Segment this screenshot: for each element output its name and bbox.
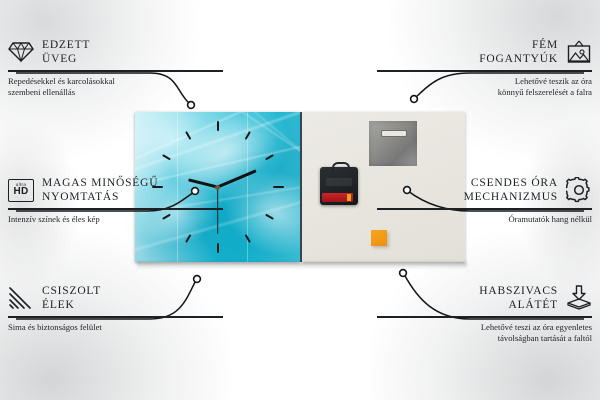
feature-silent-mechanism: CSENDES ÓRA MECHANIZMUS Óramutatók hang … — [377, 176, 592, 225]
feature-description: Repedésekkel és karcolásokkal szembeni e… — [8, 76, 223, 98]
hour-tick — [244, 234, 250, 243]
hanger-slot — [381, 130, 407, 137]
gear-icon — [566, 177, 592, 203]
feature-divider — [377, 316, 592, 318]
hour-tick — [265, 214, 274, 220]
feature-description: Lehetővé teszik az óra könnyű felszerelé… — [377, 76, 592, 98]
feature-title: CSENDES ÓRA MECHANIZMUS — [464, 176, 558, 204]
picture-frame-hook-icon — [566, 39, 592, 65]
hour-tick — [185, 131, 191, 140]
feature-title: CSISZOLT ÉLEK — [42, 284, 101, 312]
feature-polished-edges: CSISZOLT ÉLEK Sima és biztonságos felüle… — [8, 284, 223, 333]
feature-divider — [377, 70, 592, 72]
feature-divider — [377, 208, 592, 210]
hour-tick — [162, 154, 171, 160]
feature-header: CSENDES ÓRA MECHANIZMUS — [377, 176, 592, 204]
feature-divider — [8, 208, 223, 210]
infographic-canvas: EDZETT ÜVEG Repedésekkel és karcolásokka… — [0, 0, 600, 400]
mechanism-detail — [326, 178, 352, 186]
hour-tick — [185, 234, 191, 243]
ultra-hd-badge: ultra HD — [8, 179, 34, 202]
hour-tick — [273, 186, 284, 188]
diamond-icon — [8, 39, 34, 65]
mechanism-loop — [332, 162, 350, 172]
feature-title: MAGAS MINŐSÉGŰ NYOMTATÁS — [42, 176, 158, 204]
ultra-hd-icon: ultra HD — [8, 177, 34, 203]
feature-metal-handles: FÉM FOGANTYÚK Lehetővé teszik az óra kön… — [377, 38, 592, 98]
feature-high-quality-print: ultra HD MAGAS MINŐSÉGŰ NYOMTATÁS Intenz… — [8, 176, 223, 225]
feature-header: CSISZOLT ÉLEK — [8, 284, 223, 312]
connector-endpoint — [400, 270, 407, 277]
feature-description: Sima és biztonságos felület — [8, 322, 223, 333]
hour-tick — [217, 121, 219, 131]
ultra-hd-big-label: HD — [13, 187, 28, 197]
feature-title: FÉM FOGANTYÚK — [479, 38, 558, 66]
foam-pad-arrow-icon — [566, 285, 592, 311]
connector-endpoint — [194, 276, 201, 283]
product-shadow — [137, 262, 467, 269]
feature-foam-spacer: HABSZIVACS ALÁTÉT Lehetővé teszi az óra … — [377, 284, 592, 344]
hour-tick — [244, 131, 250, 140]
feature-header: EDZETT ÜVEG — [8, 38, 223, 66]
feature-tempered-glass: EDZETT ÜVEG Repedésekkel és karcolásokka… — [8, 38, 223, 98]
feature-title: EDZETT ÜVEG — [42, 38, 90, 66]
feature-divider — [8, 316, 223, 318]
clock-mechanism — [320, 167, 358, 205]
feature-description: Intenzív színek és éles kép — [8, 214, 223, 225]
metal-hanger — [369, 121, 417, 166]
foam-pad — [371, 230, 387, 246]
hour-tick — [265, 154, 274, 160]
feature-description: Lehetővé teszi az óra egyenletes távolsá… — [377, 322, 592, 344]
feature-divider — [8, 70, 223, 72]
feature-description: Óramutatók hang nélkül — [377, 214, 592, 225]
feature-header: ultra HD MAGAS MINŐSÉGŰ NYOMTATÁS — [8, 176, 223, 204]
feature-header: FÉM FOGANTYÚK — [377, 38, 592, 66]
feature-title: HABSZIVACS ALÁTÉT — [479, 284, 558, 312]
mechanism-battery — [322, 193, 353, 202]
polished-edges-icon — [8, 285, 34, 311]
battery-terminal — [347, 194, 351, 201]
hour-tick — [217, 243, 219, 253]
feature-header: HABSZIVACS ALÁTÉT — [377, 284, 592, 312]
connector-endpoint — [188, 102, 195, 109]
